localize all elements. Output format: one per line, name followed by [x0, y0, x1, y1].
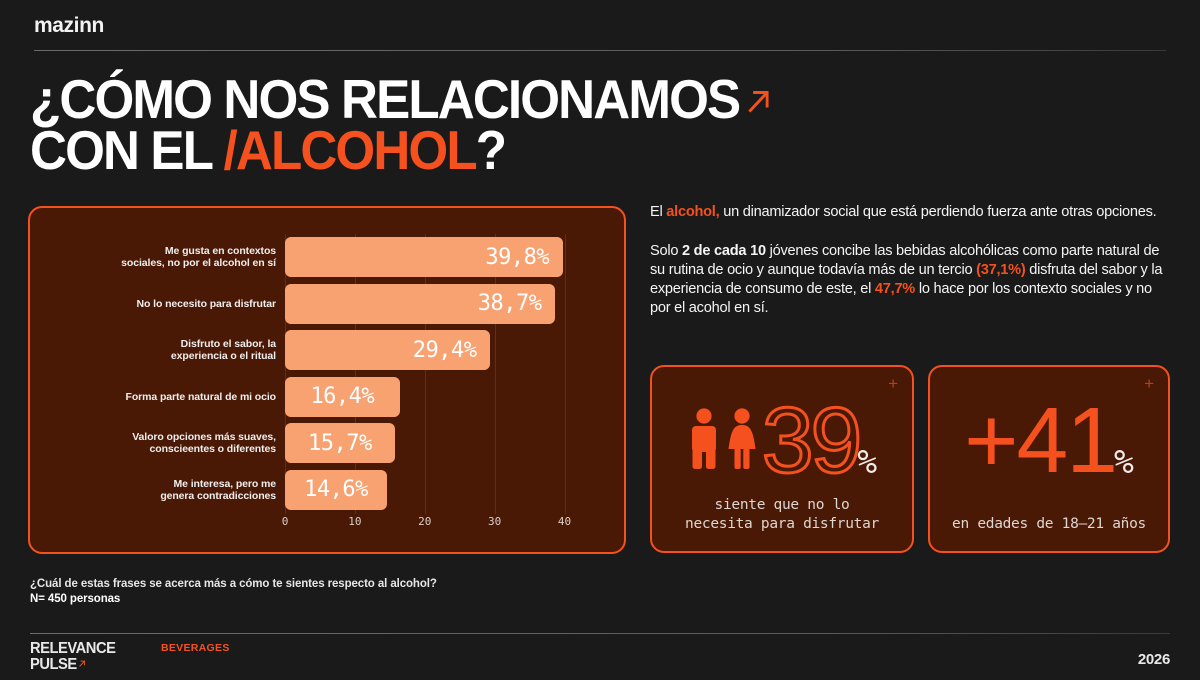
stat-caption: en edades de 18–21 años [940, 515, 1158, 533]
bar-label-line: Me gusta en contextos [56, 245, 276, 257]
bar-value-label: 39,8% [485, 245, 563, 270]
bar-label-line: conscieentes o diferentes [56, 443, 276, 455]
stat-figure: +41 % [930, 389, 1168, 493]
bar-fill[interactable]: 16,4% [285, 377, 400, 417]
footer-brand: RELEVANCE PULSE [30, 641, 115, 673]
stat-card-percent-39: + 39 % siente que no lo necesita para di… [650, 365, 914, 553]
bar-value-label: 16,4% [310, 384, 374, 409]
stat-percent-symbol: % [857, 442, 877, 481]
bar-label-line: Me interesa, pero me [56, 477, 276, 489]
bar-category-label: Valoro opciones más suaves,conscieentes … [56, 431, 276, 455]
bar-category-label: Disfruto el sabor, laexperiencia o el ri… [56, 338, 276, 362]
bar-track: 15,7% [285, 420, 624, 466]
page-title: ¿CÓMO NOS RELACIONAMOS CON EL /ALCOHOL? [30, 74, 867, 176]
bar-chart: Me gusta en contextossociales, no por el… [30, 208, 624, 552]
page-title-line-2-prefix: CON EL [30, 119, 224, 181]
bar-value-label: 38,7% [478, 291, 556, 316]
footer-year: 2026 [1138, 651, 1170, 668]
summary-paragraph-2: Solo 2 de cada 10 jóvenes concibe las be… [650, 242, 1170, 318]
bar-category-label: Forma parte natural de mi ocio [56, 390, 276, 402]
bar-row[interactable]: Forma parte natural de mi ocio16,4% [30, 374, 624, 420]
chart-card: Me gusta en contextossociales, no por el… [28, 206, 626, 554]
bar-label-line: Disfruto el sabor, la [56, 338, 276, 350]
footer-tag: BEVERAGES [161, 642, 230, 654]
bar-track: 39,8% [285, 234, 624, 280]
bar-label-line: No lo necesito para disfrutar [56, 297, 276, 309]
bar-value-label: 15,7% [308, 431, 372, 456]
bar-fill[interactable]: 15,7% [285, 423, 395, 463]
bar-track: 16,4% [285, 374, 624, 420]
source-question: ¿Cuál de estas frases se acerca más a có… [30, 578, 650, 590]
footer-divider [30, 633, 1170, 634]
p2-bold-stat: 2 de cada 10 [682, 243, 766, 259]
bar-label-line: sociales, no por el alcohol en sí [56, 257, 276, 269]
bar-row[interactable]: No lo necesito para disfrutar38,7% [30, 281, 624, 327]
arrow-up-right-icon [742, 85, 774, 119]
stat-caption-line-1: en edades de 18–21 años [940, 515, 1158, 533]
p2-highlight-1: (37,1%) [976, 262, 1025, 278]
bar-category-label: Me gusta en contextossociales, no por el… [56, 245, 276, 269]
bar-row[interactable]: Valoro opciones más suaves,conscieentes … [30, 420, 624, 466]
summary-copy: El alcohol, un dinamizador social que es… [650, 203, 1170, 318]
bar-fill[interactable]: 14,6% [285, 470, 387, 510]
arrow-up-right-icon [78, 659, 87, 669]
p1-prefix: El [650, 204, 666, 220]
stat-caption-line-2: necesita para disfrutar [662, 515, 902, 533]
bar-category-label: No lo necesito para disfrutar [56, 297, 276, 309]
page-title-line-2-suffix: ? [476, 119, 505, 181]
x-tick-label: 40 [558, 515, 571, 528]
bar-row[interactable]: Me gusta en contextossociales, no por el… [30, 234, 624, 280]
header-divider [34, 50, 1166, 51]
stat-card-percent-41: + +41 % en edades de 18–21 años [928, 365, 1170, 553]
chart-x-axis: 010203040 [285, 515, 624, 535]
footer: RELEVANCE PULSE BEVERAGES 2026 [30, 641, 1170, 675]
p1-suffix: un dinamizador social que está perdiendo… [719, 204, 1156, 220]
stat-caption-line-1: siente que no lo [662, 496, 902, 514]
bar-fill[interactable]: 38,7% [285, 284, 555, 324]
x-tick-label: 0 [282, 515, 289, 528]
bar-row[interactable]: Me interesa, pero megenera contradiccion… [30, 467, 624, 513]
people-icons [687, 408, 760, 470]
x-tick-label: 30 [488, 515, 501, 528]
bar-track: 29,4% [285, 327, 624, 373]
x-tick-label: 10 [348, 515, 361, 528]
bar-row[interactable]: Disfruto el sabor, laexperiencia o el ri… [30, 327, 624, 373]
bar-label-line: genera contradicciones [56, 490, 276, 502]
stat-figure: 39 % [652, 389, 912, 493]
bar-label-line: Valoro opciones más suaves, [56, 431, 276, 443]
summary-paragraph-1: El alcohol, un dinamizador social que es… [650, 203, 1170, 222]
p2-highlight-2: 47,7% [875, 281, 915, 297]
stat-percent-symbol: % [1114, 442, 1134, 481]
bar-track: 14,6% [285, 467, 624, 513]
bar-label-line: Forma parte natural de mi ocio [56, 390, 276, 402]
brand-logo: mazinn [34, 14, 1166, 38]
bar-value-label: 14,6% [304, 477, 368, 502]
bar-category-label: Me interesa, pero megenera contradiccion… [56, 477, 276, 501]
bar-fill[interactable]: 29,4% [285, 330, 490, 370]
footer-brand-line-1: RELEVANCE [30, 641, 115, 657]
male-person-icon [687, 408, 721, 470]
p2-prefix: Solo [650, 243, 682, 259]
brand-bar: mazinn [34, 14, 1166, 51]
bar-label-line: experiencia o el ritual [56, 350, 276, 362]
stat-number: +41 [964, 398, 1116, 484]
source-sample-size: N= 450 personas [30, 593, 650, 605]
bar-fill[interactable]: 39,8% [285, 237, 563, 277]
footer-brand-line-2-text: PULSE [30, 656, 77, 673]
page-title-line-2: CON EL /ALCOHOL? [30, 125, 867, 176]
x-tick-label: 20 [418, 515, 431, 528]
female-person-icon [724, 408, 760, 470]
bar-track: 38,7% [285, 281, 624, 327]
stat-caption: siente que no lo necesita para disfrutar [662, 496, 902, 533]
footer-brand-line-2: PULSE [30, 657, 115, 673]
page-title-highlight: /ALCOHOL [224, 119, 476, 181]
p1-highlight: alcohol, [666, 204, 719, 220]
page-title-line-1: ¿CÓMO NOS RELACIONAMOS [30, 74, 867, 125]
source-note: ¿Cuál de estas frases se acerca más a có… [30, 578, 650, 605]
bar-value-label: 29,4% [413, 338, 491, 363]
stat-number: 39 [762, 398, 859, 484]
